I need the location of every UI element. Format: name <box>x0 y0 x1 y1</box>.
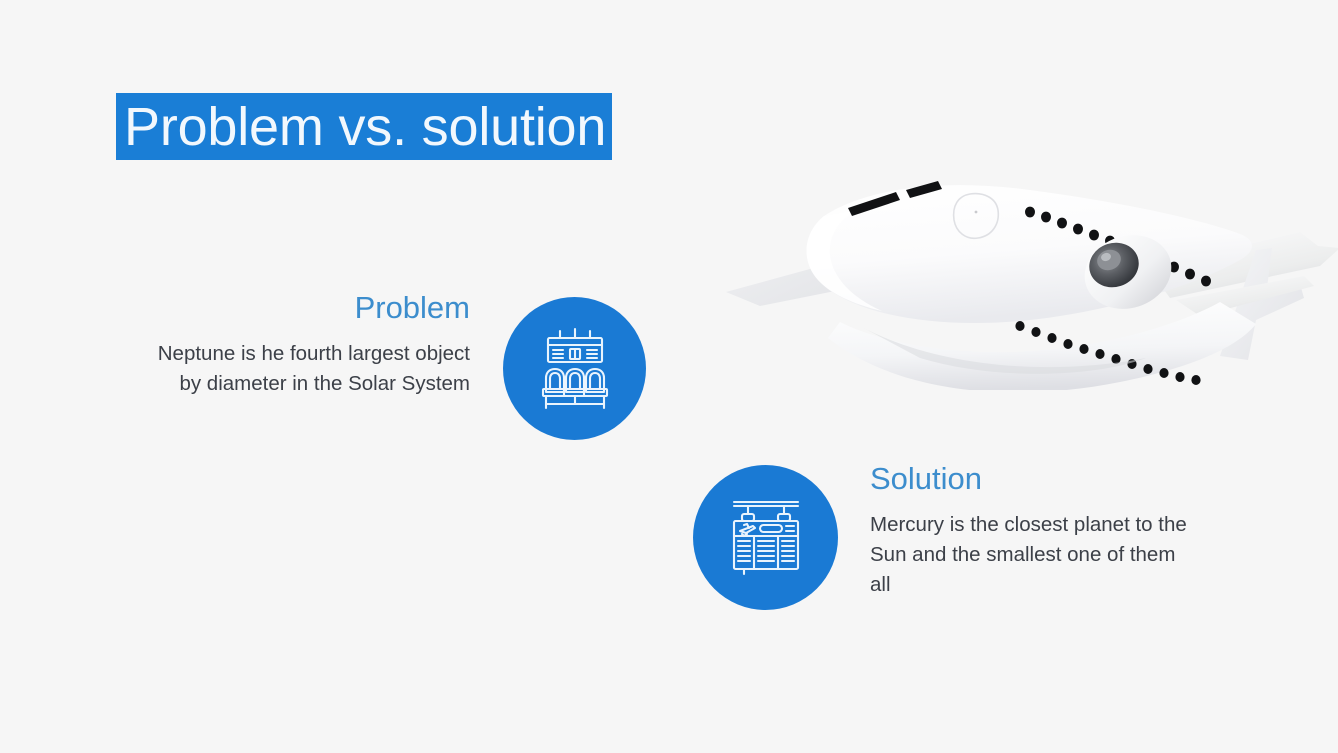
plane-belly-shadow <box>860 326 1146 374</box>
plane-fuselage-lower <box>828 302 1256 390</box>
plane-engine-near <box>1075 224 1181 320</box>
departure-board-icon <box>722 494 810 582</box>
problem-heading: Problem <box>150 291 470 325</box>
plane-stabilizer <box>1176 276 1314 316</box>
solution-body-text: Mercury is the closest planet to the Sun… <box>870 510 1200 599</box>
plane-cockpit-windows <box>848 181 942 216</box>
solution-heading: Solution <box>870 462 1200 496</box>
slide-canvas: Problem vs. solution Problem Neptune is … <box>0 0 1338 753</box>
solution-icon-circle[interactable] <box>693 465 838 610</box>
plane-fuselage-upper <box>807 185 1252 323</box>
solution-text-block: Solution Mercury is the closest planet t… <box>870 462 1200 599</box>
plane-windows-lower <box>1015 321 1200 385</box>
plane-wing-near <box>1148 232 1338 298</box>
slide-title-bar: Problem vs. solution <box>116 93 612 160</box>
problem-text-block: Problem Neptune is he fourth largest obj… <box>150 291 470 399</box>
plane-nose-highlight <box>807 210 882 311</box>
plane-wing-far <box>726 225 1018 306</box>
airport-seating-icon <box>532 326 618 412</box>
page-title: Problem vs. solution <box>124 100 606 154</box>
problem-icon-circle[interactable] <box>503 297 646 440</box>
plane-tail-fin <box>1220 248 1304 360</box>
airplane-illustration <box>700 120 1338 390</box>
plane-door <box>954 194 999 239</box>
problem-body-text: Neptune is he fourth largest object by d… <box>150 339 470 398</box>
plane-windows-upper <box>1025 207 1211 287</box>
plane-engine-far <box>845 236 907 291</box>
